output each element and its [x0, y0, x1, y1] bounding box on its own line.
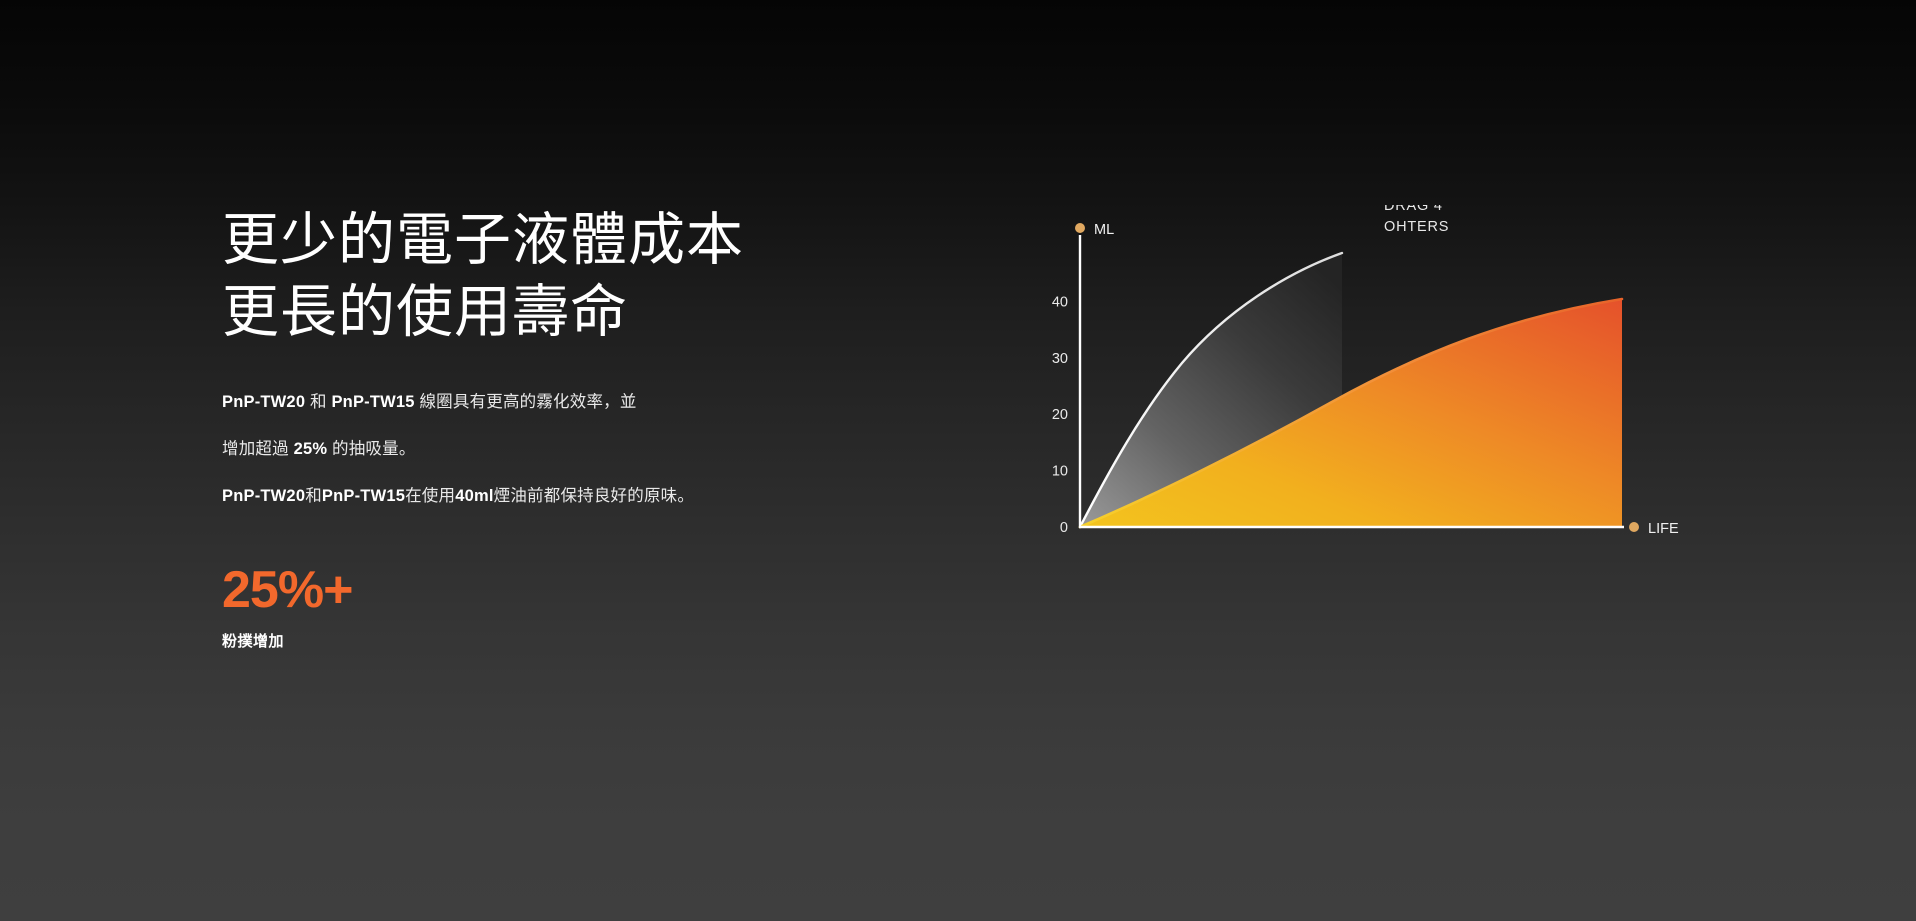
y-tick-label: 0 [1060, 520, 1068, 536]
paragraph-segment: 線圈具有更高的霧化效率，並 [419, 393, 636, 411]
chart-legend: DRAG 4 OHTERS [1325, 205, 1449, 235]
headline-line-1: 更少的電子液體成本 [222, 205, 922, 277]
y-axis-endpoint-dot [1075, 223, 1085, 233]
paragraph-segment: 煙油前都保持良好的原味。 [494, 487, 694, 505]
stat-block: 25%+ 粉撲增加 [222, 564, 922, 651]
stat-value: 25%+ [222, 564, 922, 616]
y-axis-label: ML [1094, 222, 1114, 238]
paragraph-segment: PnP-TW15 [331, 393, 419, 411]
copy-block: 更少的電子液體成本 更長的使用壽命 PnP-TW20 和 PnP-TW15 線圈… [222, 205, 922, 651]
legend-label-drag-4: DRAG 4 [1384, 205, 1443, 214]
y-tick-label: 10 [1052, 464, 1068, 480]
slide-root: 更少的電子液體成本 更長的使用壽命 PnP-TW20 和 PnP-TW15 線圈… [0, 0, 1916, 921]
paragraph-segment: 和 [305, 487, 322, 505]
x-axis-endpoint-dot [1629, 522, 1639, 532]
paragraph-line-3: PnP-TW20和PnP-TW15在使用40ml煙油前都保持良好的原味。 [222, 487, 922, 506]
y-tick-label: 30 [1052, 351, 1068, 367]
stat-label: 粉撲增加 [222, 630, 922, 651]
headline-line-2: 更長的使用壽命 [222, 277, 922, 349]
plot-area [1080, 253, 1622, 527]
area-chart: DRAG 4 OHTERS ML LIFE [1030, 205, 1790, 685]
y-tick-label: 20 [1052, 407, 1068, 423]
paragraph-segment: 在使用 [405, 487, 455, 505]
paragraph-line-2: 增加超過 25% 的抽吸量。 [222, 440, 922, 459]
y-axis-ticks: 010203040 [1052, 294, 1068, 536]
paragraph-segment: 的抽吸量。 [332, 440, 416, 458]
paragraph-segment: 和 [310, 393, 331, 411]
x-axis-label: LIFE [1648, 521, 1679, 537]
paragraph-segment: 25% [294, 440, 332, 458]
chart-container: DRAG 4 OHTERS ML LIFE [1030, 205, 1790, 685]
paragraph-segment: 增加超過 [222, 440, 294, 458]
paragraph-line-1: PnP-TW20 和 PnP-TW15 線圈具有更高的霧化效率，並 [222, 393, 922, 412]
paragraph-segment: PnP-TW15 [322, 487, 405, 505]
paragraph-segment: 40ml [455, 487, 493, 505]
paragraph-segment: PnP-TW20 [222, 393, 310, 411]
y-tick-label: 40 [1052, 294, 1068, 310]
paragraph-block: PnP-TW20 和 PnP-TW15 線圈具有更高的霧化效率，並增加超過 25… [222, 393, 922, 506]
paragraph-segment: PnP-TW20 [222, 487, 305, 505]
legend-label-ohters: OHTERS [1384, 219, 1449, 235]
